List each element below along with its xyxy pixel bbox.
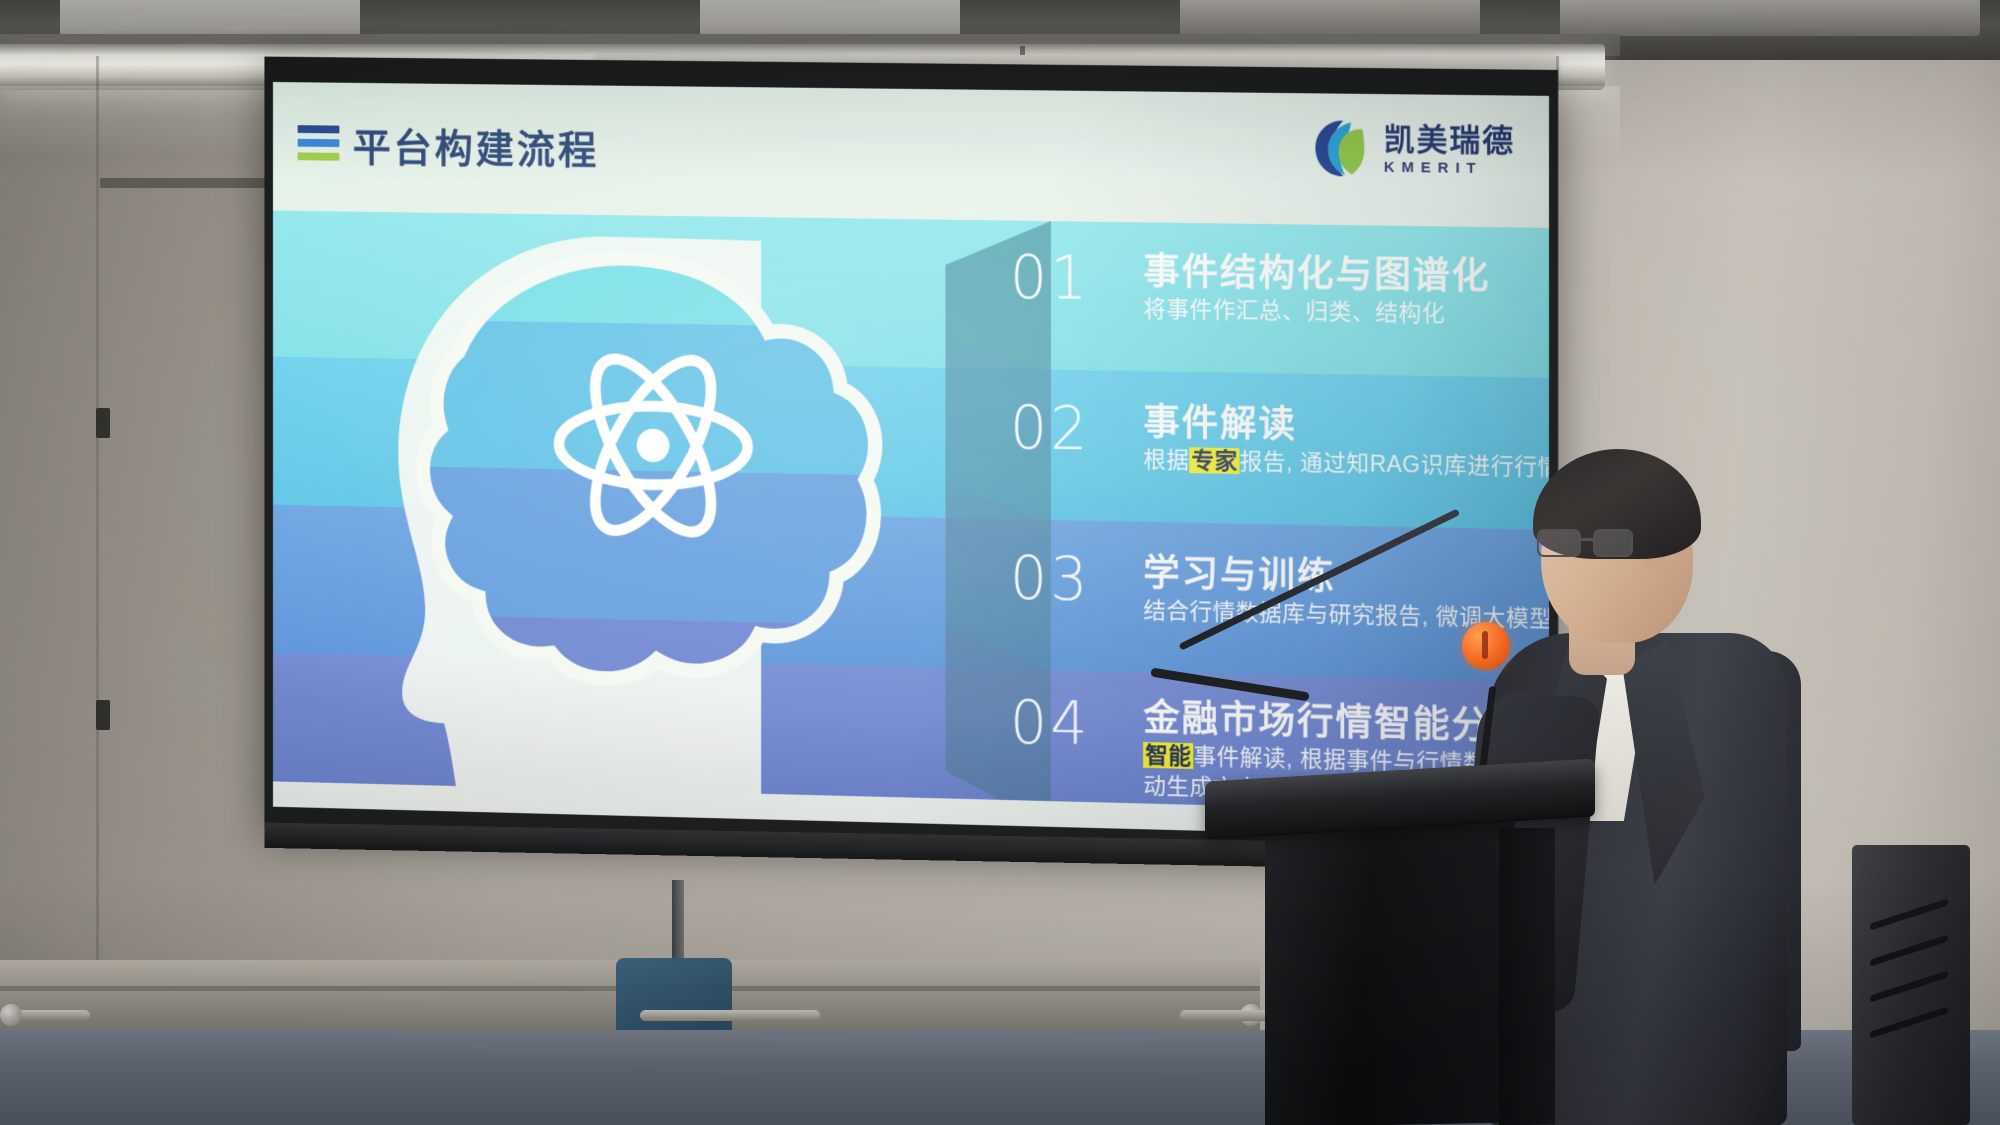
step-number: 03 [1010,549,1091,610]
step-number: 02 [1010,399,1091,460]
podium [1235,770,1565,1125]
speaker-cabinet [1852,845,1970,1125]
projection-screen: 平台构建流程 凯美瑞德 KMERIT [264,57,1558,860]
subtext-highlight: 智能 [1143,742,1193,769]
podium-body [1265,821,1515,1125]
ceiling-duct [1560,0,1980,36]
step-heading: 事件结构化与图谱化 [1143,252,1490,297]
logo-text-cn: 凯美瑞德 [1384,123,1515,155]
microphone-head-icon [1462,622,1510,670]
step-subtext: 将事件作汇总、归类、结构化 [1143,295,1490,329]
head-profile-icon [311,194,965,825]
step-bands: 01 事件结构化与图谱化 将事件作汇总、归类、结构化 02 事件解读 根据专家报… [273,211,1549,840]
wall-slot [96,700,110,730]
slide-title: 平台构建流程 [353,116,600,176]
wall-rail [640,1010,820,1021]
logo-text-en: KMERIT [1384,159,1515,176]
three-bars-icon [298,125,340,161]
presentation-room-scene: 平台构建流程 凯美瑞德 KMERIT [0,0,2000,1125]
step-heading: 事件解读 [1143,403,1549,451]
step-number: 01 [1010,248,1091,309]
glasses-icon [1537,529,1641,559]
circle-leaf-logo-icon [1313,117,1374,179]
ceiling-duct [1180,0,1480,36]
screen-surface: 平台构建流程 凯美瑞德 KMERIT [273,82,1549,840]
company-logo: 凯美瑞德 KMERIT [1313,117,1516,181]
wall-slot [96,408,110,438]
podium-side [1499,827,1555,1125]
podium-top [1205,758,1595,837]
step-number: 04 [1010,693,1091,754]
subtext-before: 根据 [1143,446,1189,473]
rail-post [0,1004,22,1026]
slide: 平台构建流程 凯美瑞德 KMERIT [273,82,1549,840]
subtext-highlight: 专家 [1190,447,1240,474]
step-row-01: 01 事件结构化与图谱化 将事件作汇总、归类、结构化 [1010,248,1491,328]
